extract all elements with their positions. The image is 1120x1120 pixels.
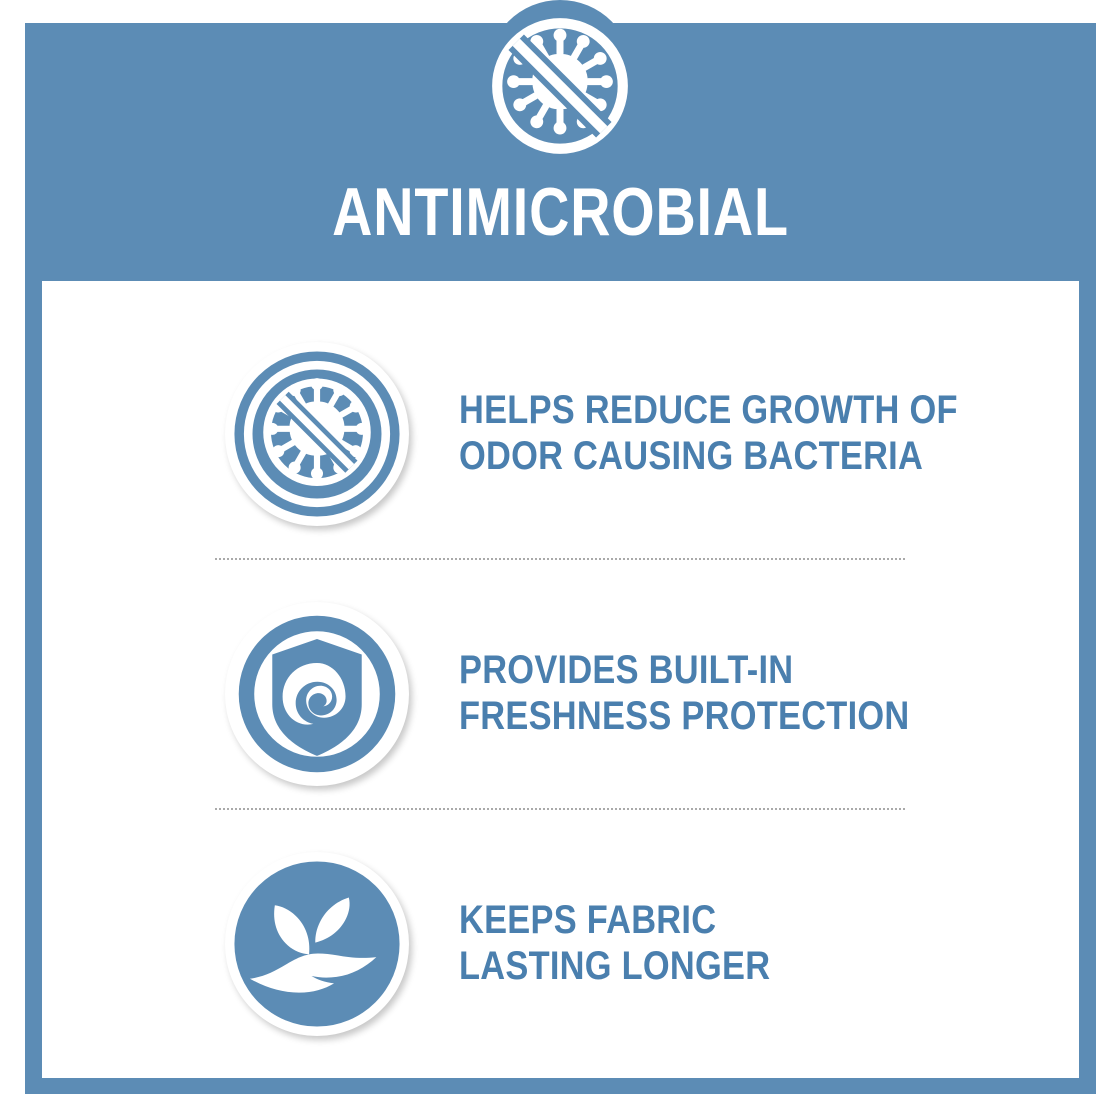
feature-badge-3 (225, 852, 409, 1036)
feature-label-2: PROVIDES BUILT-IN FRESHNESS PROTECTION (459, 648, 910, 739)
feature-line-3a: KEEPS FABRIC (459, 898, 770, 944)
divider-1 (215, 558, 905, 561)
feature-line-2b: FRESHNESS PROTECTION (459, 694, 910, 740)
no-germ-icon (231, 348, 403, 520)
feature-badge-2 (225, 602, 409, 786)
feature-badge-1 (225, 342, 409, 526)
list-item: HELPS REDUCE GROWTH OF ODOR CAUSING BACT… (42, 311, 1079, 556)
no-germ-icon (487, 13, 633, 159)
shield-swirl-icon (231, 608, 403, 780)
sprout-leaf-icon (231, 858, 403, 1030)
antimicrobial-infographic: ANTIMICROBIAL (0, 0, 1120, 1120)
feature-line-2a: PROVIDES BUILT-IN (459, 648, 910, 694)
feature-list: HELPS REDUCE GROWTH OF ODOR CAUSING BACT… (42, 281, 1079, 1078)
feature-label-3: KEEPS FABRIC LASTING LONGER (459, 898, 770, 989)
feature-line-1a: HELPS REDUCE GROWTH OF (459, 388, 958, 434)
divider-2 (215, 808, 905, 811)
feature-line-3b: LASTING LONGER (459, 944, 770, 990)
page-title: ANTIMICROBIAL (121, 178, 999, 246)
feature-label-1: HELPS REDUCE GROWTH OF ODOR CAUSING BACT… (459, 388, 958, 479)
list-item: PROVIDES BUILT-IN FRESHNESS PROTECTION (42, 571, 1079, 816)
feature-line-1b: ODOR CAUSING BACTERIA (459, 434, 958, 480)
list-item: KEEPS FABRIC LASTING LONGER (42, 821, 1079, 1066)
